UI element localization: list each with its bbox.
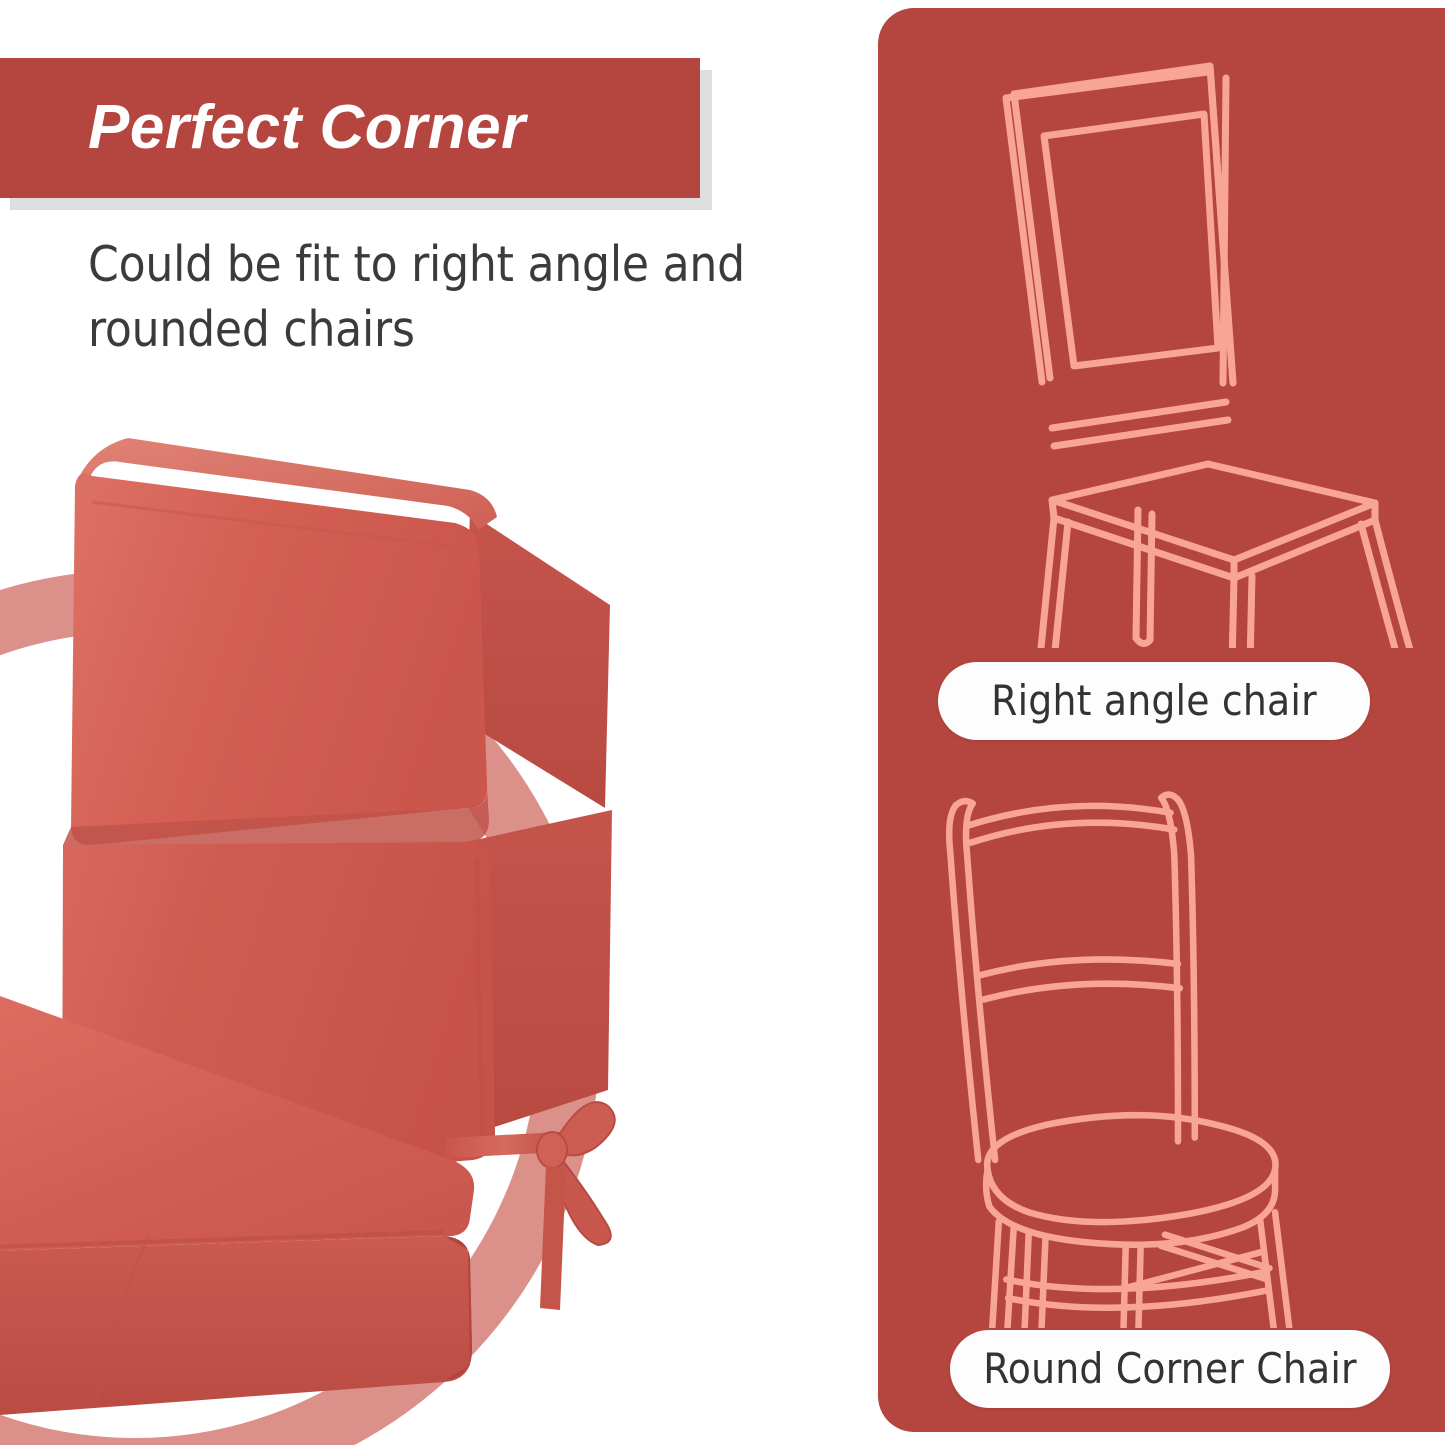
right-angle-chair-label-pill: Right angle chair (938, 662, 1370, 740)
product-photo-area (0, 390, 880, 1445)
headrest-front-face (71, 474, 487, 846)
round-corner-chair-label: Round Corner Chair (983, 1348, 1357, 1390)
round-corner-chair-label-pill: Round Corner Chair (950, 1330, 1390, 1408)
right-angle-chair-label: Right angle chair (991, 680, 1317, 722)
seat-cushion-front-face (0, 1236, 472, 1418)
chair-type-panel: Right angle chair (878, 8, 1445, 1432)
tie-bow-tail (540, 1166, 566, 1310)
round-corner-chair-illustration (878, 768, 1445, 1328)
product-infographic: Perfect Corner Could be fit to right ang… (0, 0, 1445, 1445)
title-banner-fill: Perfect Corner (0, 58, 700, 198)
right-angle-chair-illustration (878, 48, 1445, 648)
title-banner: Perfect Corner (0, 58, 712, 198)
subtitle-text: Could be fit to right angle and rounded … (88, 233, 848, 362)
chair-cushion-product (0, 390, 880, 1445)
page-title: Perfect Corner (88, 97, 526, 159)
tie-bow-knot (537, 1132, 567, 1168)
